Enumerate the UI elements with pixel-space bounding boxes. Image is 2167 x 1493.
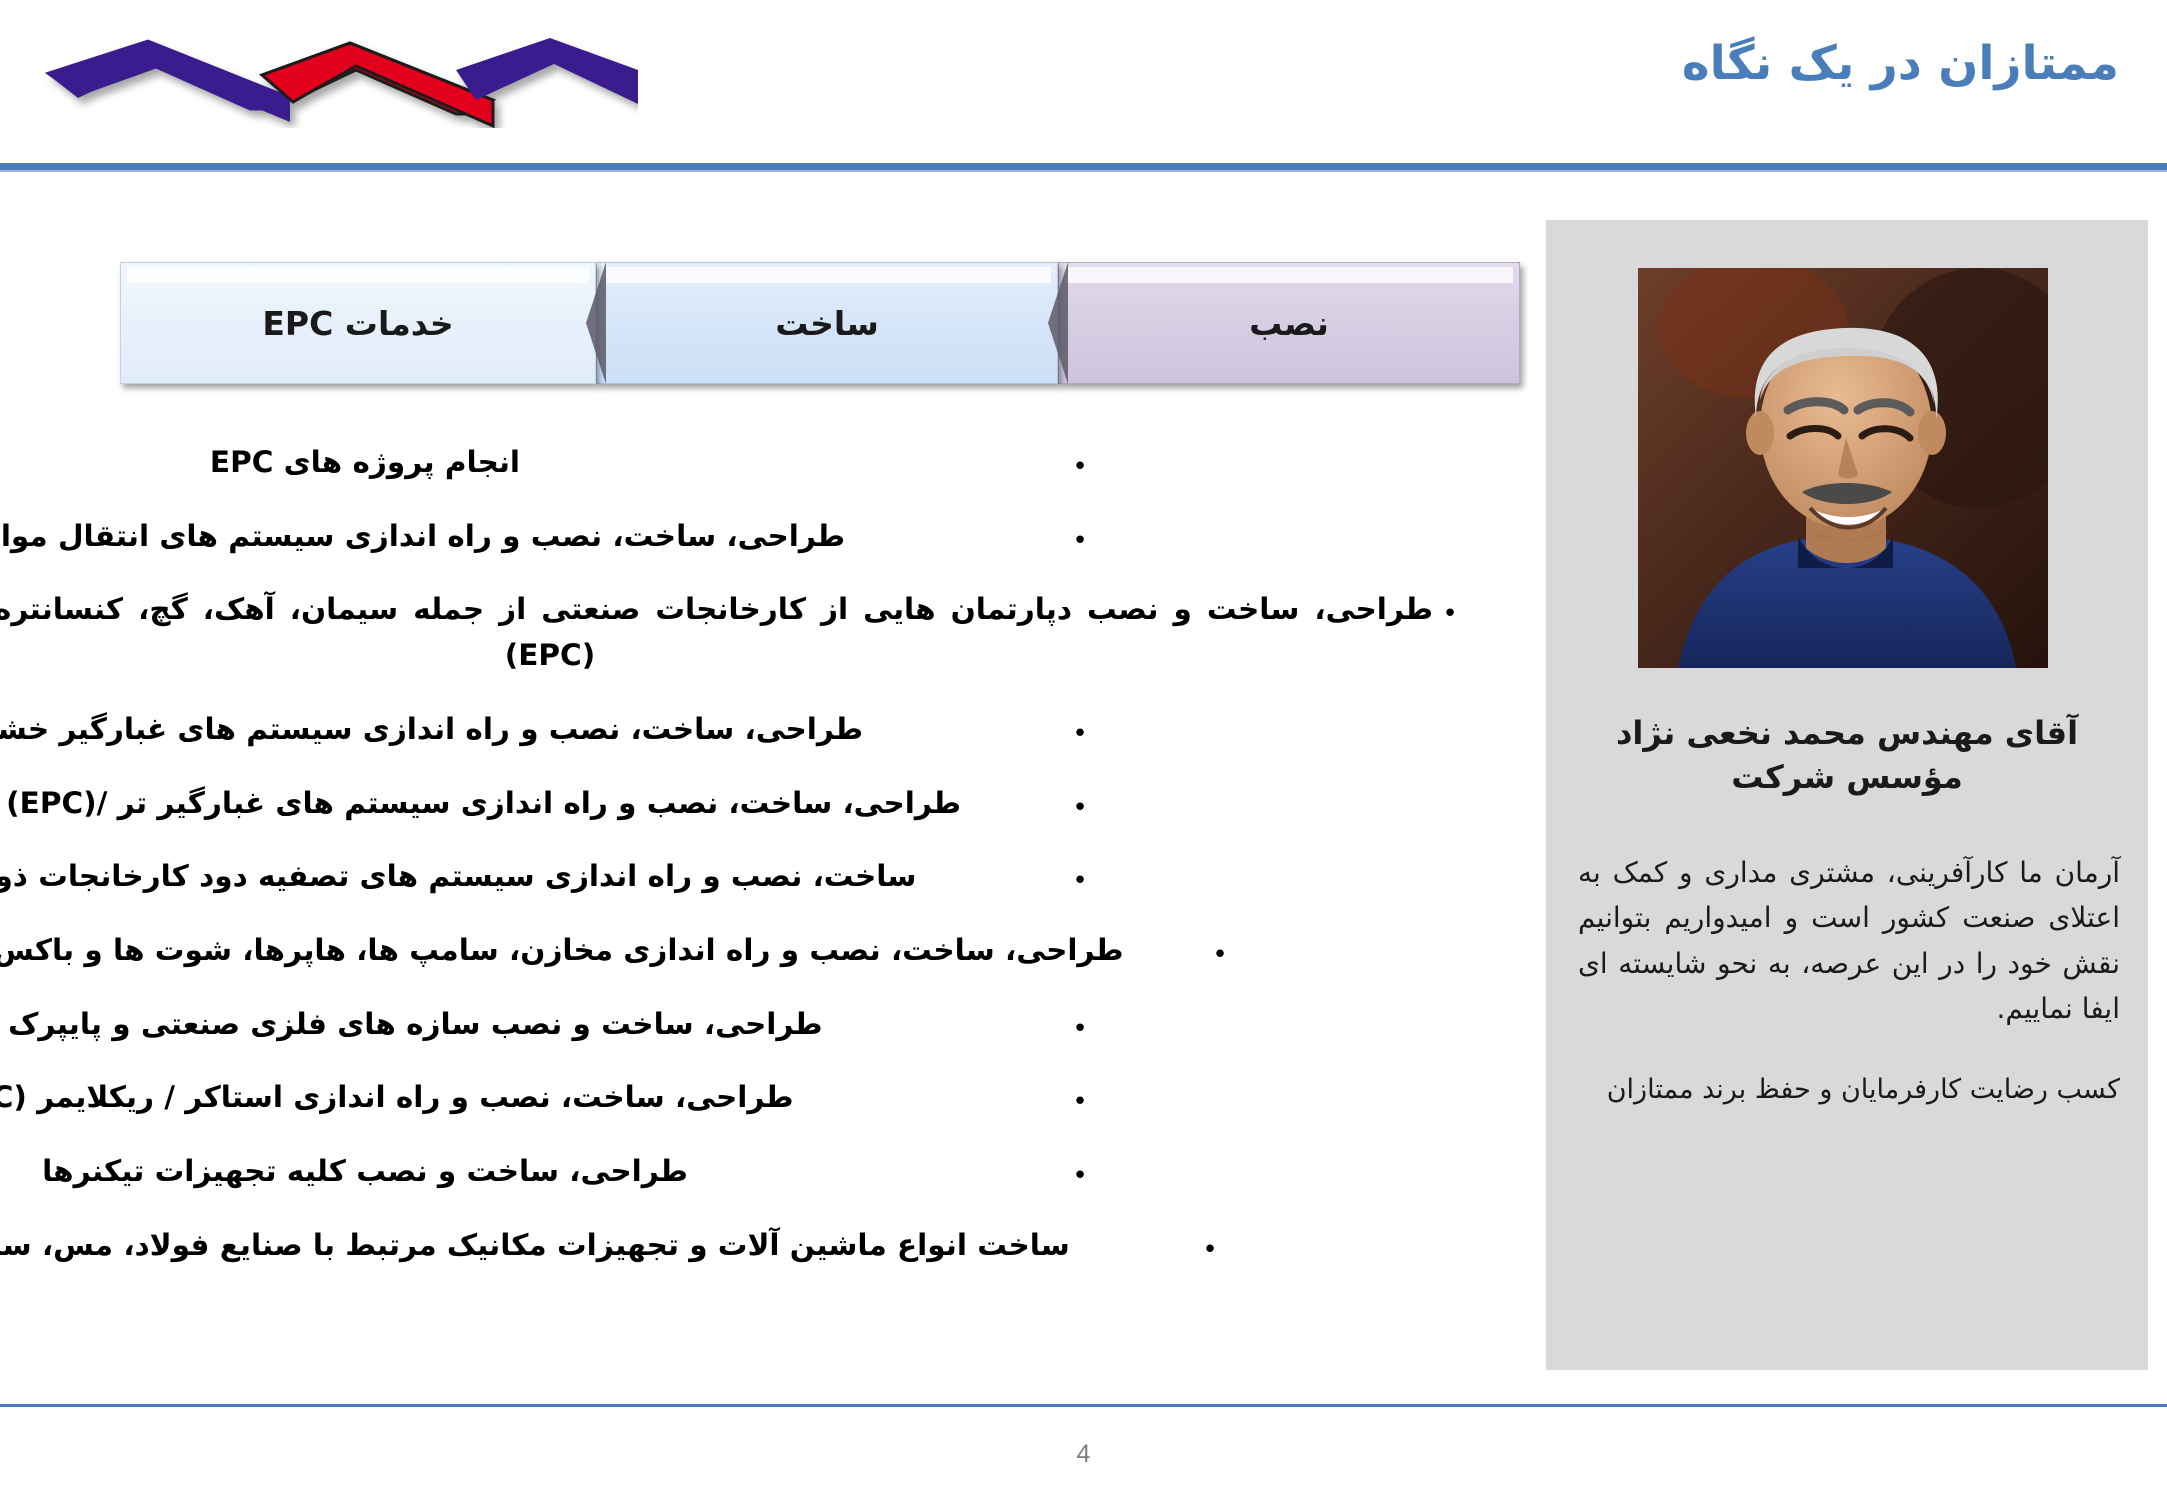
list-item-text: طراحی، ساخت، نصب و راه اندازی سیستم های … bbox=[0, 514, 1063, 560]
founder-name: آقای مهندس محمد نخعی نژاد bbox=[1546, 710, 2148, 756]
footer-divider bbox=[0, 1404, 2167, 1407]
bullet-icon: • bbox=[1063, 1002, 1097, 1042]
list-item: • طراحی، ساخت، نصب و راه اندازی مخازن، س… bbox=[0, 928, 1237, 974]
list-item-text: طراحی، ساخت و نصب کلیه تجهیزات تیکنرها bbox=[0, 1149, 1063, 1195]
tab-nasb[interactable]: نصب bbox=[1058, 262, 1520, 384]
tab-sakht[interactable]: ساخت bbox=[596, 262, 1058, 384]
bullet-icon: • bbox=[1063, 1075, 1097, 1115]
list-item-text: ساخت انواع ماشین آلات و تجهیزات مکانیک م… bbox=[0, 1223, 1193, 1269]
list-item-text: طراحی، ساخت، نصب و راه اندازی سیستم های … bbox=[0, 781, 1063, 827]
founder-portrait bbox=[1638, 268, 2048, 668]
bullet-icon: • bbox=[1063, 440, 1097, 480]
bullet-icon: • bbox=[1063, 781, 1097, 821]
bullet-icon: • bbox=[1203, 928, 1237, 968]
list-item-text: ساخت، نصب و راه اندازی سیستم های تصفیه د… bbox=[0, 854, 1063, 900]
bullet-icon: • bbox=[1063, 707, 1097, 747]
list-item: • انجام پروژه های EPC bbox=[0, 440, 1097, 486]
list-item-text: طراحی، ساخت، نصب و راه اندازی مخازن، سام… bbox=[0, 928, 1203, 974]
bullet-icon: • bbox=[1063, 1149, 1097, 1189]
page-title: ممتازان در یک نگاه bbox=[1682, 36, 2119, 91]
page-number: 4 bbox=[0, 1440, 2167, 1469]
chevron-left-icon-2 bbox=[586, 262, 606, 384]
list-item: • طراحی، ساخت و نصب سازه های فلزی صنعتی … bbox=[0, 1002, 1097, 1048]
list-item-text: طراحی، ساخت و نصب سازه های فلزی صنعتی و … bbox=[0, 1002, 1063, 1048]
tab-sakht-label: ساخت bbox=[775, 304, 879, 343]
tab-epc-services-label: خدمات EPC bbox=[262, 304, 453, 343]
list-item: • ساخت، نصب و راه اندازی سیستم های تصفیه… bbox=[0, 854, 1097, 900]
list-item-text: طراحی، ساخت، نصب و راه اندازی استاکر / ر… bbox=[0, 1075, 1063, 1121]
chevron-left-icon-1 bbox=[1048, 262, 1068, 384]
list-item: • طراحی، ساخت، نصب و راه اندازی سیستم ها… bbox=[0, 707, 1097, 753]
service-tab-bar: نصب ساخت خدمات EPC bbox=[120, 262, 1520, 384]
momtazan-chevron-logo bbox=[38, 18, 638, 128]
bullet-icon: • bbox=[1433, 587, 1467, 627]
bullet-icon: • bbox=[1063, 514, 1097, 554]
vision-statement: آرمان ما کارآفرینی، مشتری مداری و کمک به… bbox=[1578, 850, 2120, 1031]
list-item-text: انجام پروژه های EPC bbox=[0, 440, 1063, 486]
bullet-icon: • bbox=[1063, 854, 1097, 894]
list-item-text: طراحی، ساخت، نصب و راه اندازی سیستم های … bbox=[0, 707, 1063, 753]
list-item: • طراحی، ساخت، نصب و راه اندازی سیستم ها… bbox=[0, 514, 1097, 560]
list-item: • طراحی، ساخت و نصب کلیه تجهیزات تیکنرها bbox=[0, 1149, 1097, 1195]
list-item: • طراحی، ساخت، نصب و راه اندازی سیستم ها… bbox=[0, 781, 1097, 827]
founder-role: مؤسس شرکت bbox=[1546, 758, 2148, 796]
list-item-text: طراحی، ساخت و نصب دپارتمان هایی از کارخا… bbox=[0, 587, 1433, 678]
list-item: • ساخت انواع ماشین آلات و تجهیزات مکانیک… bbox=[0, 1223, 1227, 1269]
founder-info-panel: آقای مهندس محمد نخعی نژاد مؤسس شرکت آرما… bbox=[1546, 220, 2148, 1370]
header-divider bbox=[0, 163, 2167, 170]
slide: ممتازان در یک نگاه نصب ساخت خدمات EPC • … bbox=[0, 0, 2167, 1493]
brand-statement: کسب رضایت کارفرمایان و حفظ برند ممتازان bbox=[1578, 1068, 2120, 1111]
list-item: • طراحی، ساخت و نصب دپارتمان هایی از کار… bbox=[0, 587, 1467, 678]
header-divider-thin bbox=[0, 170, 2167, 172]
slide-header: ممتازان در یک نگاه bbox=[0, 0, 2167, 160]
bullet-icon: • bbox=[1193, 1223, 1227, 1263]
tab-epc-services[interactable]: خدمات EPC bbox=[120, 262, 596, 384]
list-item: • طراحی، ساخت، نصب و راه اندازی استاکر /… bbox=[0, 1075, 1097, 1121]
services-bullet-list: • انجام پروژه های EPC • طراحی، ساخت، نصب… bbox=[0, 440, 1097, 1297]
tab-nasb-label: نصب bbox=[1249, 304, 1329, 343]
